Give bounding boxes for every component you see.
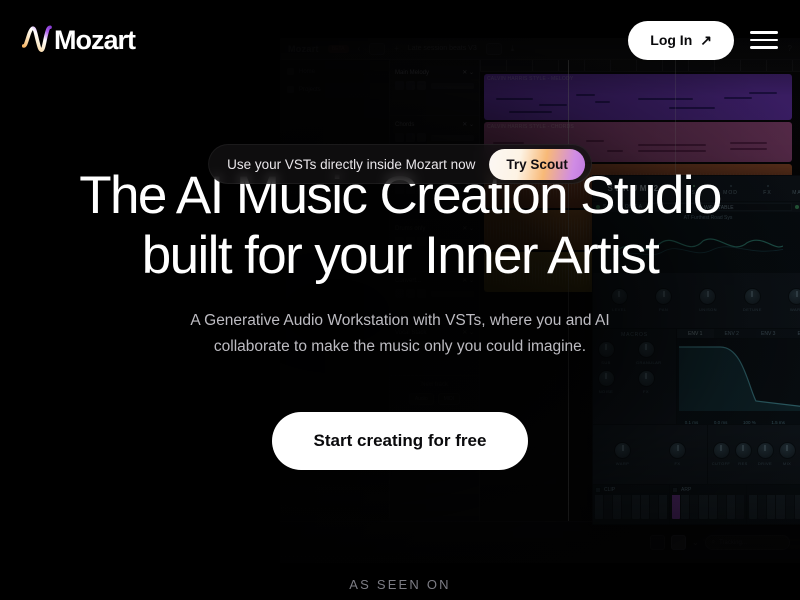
brand-logo[interactable]: Mozart	[22, 25, 135, 56]
hero-subtitle: A Generative Audio Workstation with VSTs…	[190, 308, 609, 360]
subtitle-line-1: A Generative Audio Workstation with VSTs…	[190, 312, 609, 329]
promo-banner: Use your VSTs directly inside Mozart now…	[208, 144, 592, 184]
promo-banner-text: Use your VSTs directly inside Mozart now	[227, 157, 475, 172]
login-label: Log In	[650, 32, 692, 48]
start-creating-button[interactable]: Start creating for free	[272, 412, 529, 470]
landing-page-hero: Mozart BETA ‹ + Late session beats V3 ⤓ …	[0, 0, 800, 600]
as-seen-on-label: AS SEEN ON	[0, 577, 800, 592]
brand-name: Mozart	[54, 25, 135, 56]
page-title: The AI Music Creation Studio built for y…	[79, 166, 721, 286]
hamburger-menu-icon[interactable]	[750, 31, 778, 49]
site-header: Mozart Log In ↗	[0, 0, 800, 80]
login-button[interactable]: Log In ↗	[628, 21, 734, 60]
headline-line-2: built for your Inner Artist	[142, 226, 658, 285]
arrow-up-right-icon: ↗	[700, 32, 712, 49]
try-scout-button[interactable]: Try Scout	[489, 149, 585, 180]
subtitle-line-2: collaborate to make the music only you c…	[214, 338, 586, 355]
hero-section: The AI Music Creation Studio built for y…	[0, 0, 800, 600]
mozart-waveform-logo-icon	[22, 25, 56, 55]
